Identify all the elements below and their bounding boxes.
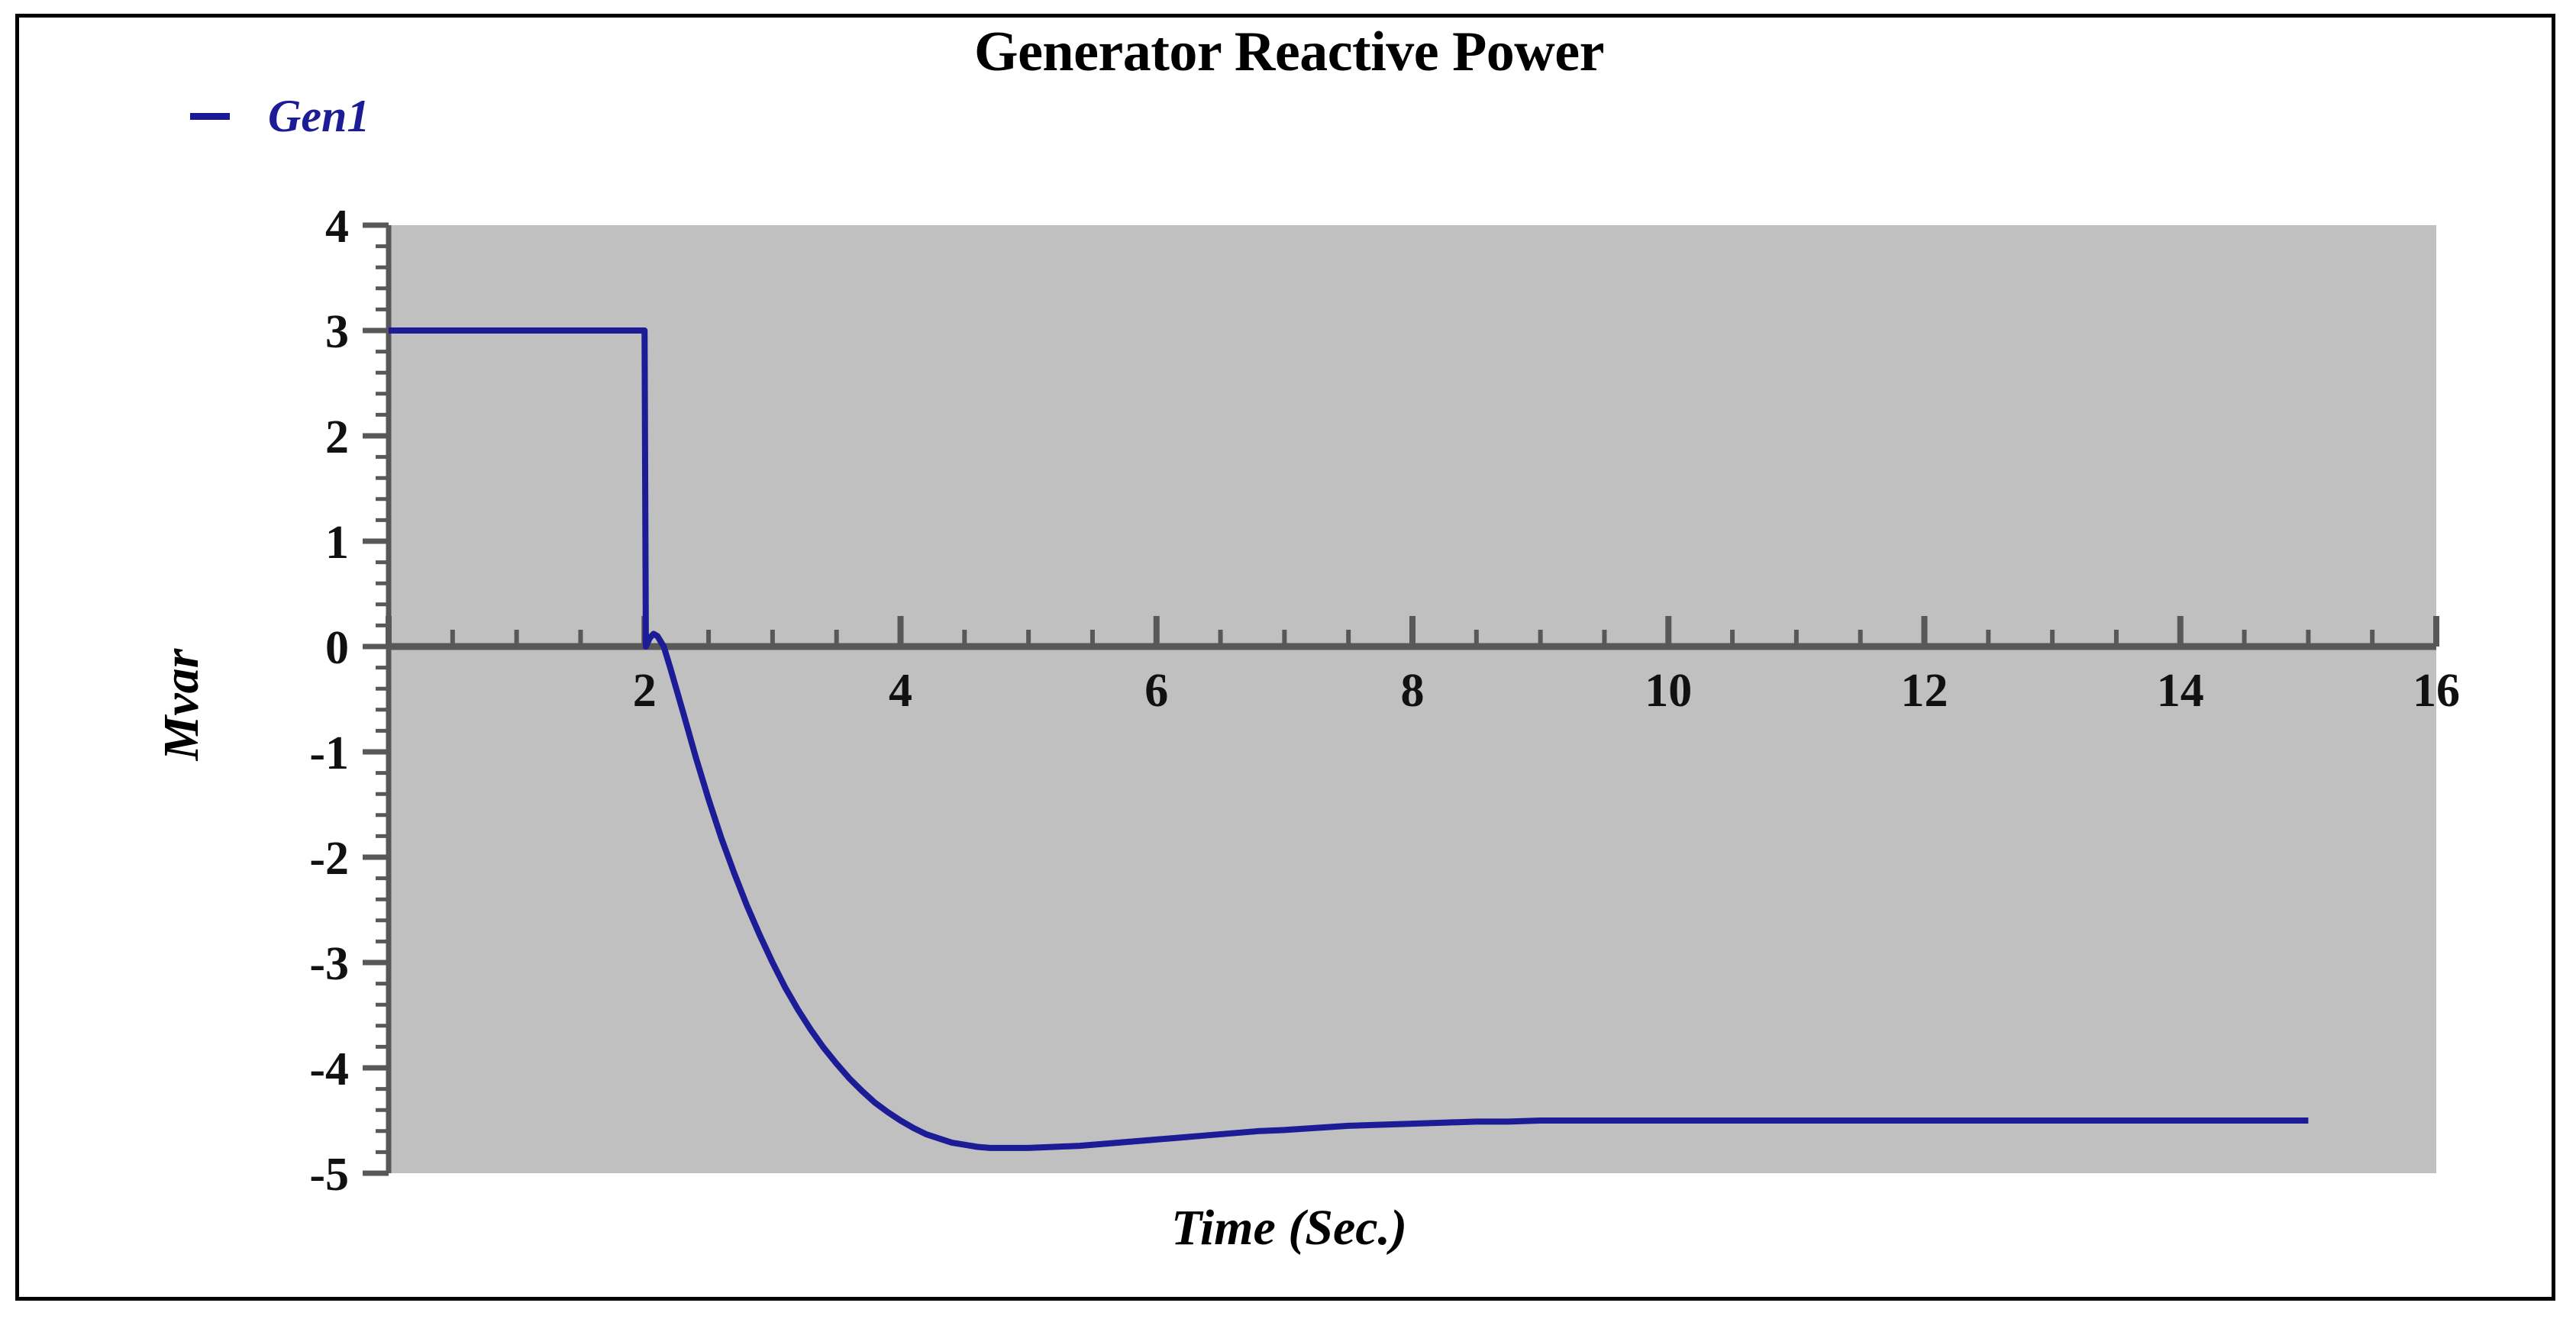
x-axis-tick-label: 14	[2157, 665, 2204, 717]
x-axis-tick-label: 2	[633, 665, 657, 717]
x-axis-tick-label: 4	[889, 665, 912, 717]
x-axis-tick-label: 8	[1401, 665, 1425, 717]
y-axis-tick-label: -3	[309, 938, 349, 990]
x-axis-tick-label: 6	[1144, 665, 1168, 717]
y-axis-tick-label: 4	[325, 201, 349, 253]
y-axis-tick-label: -2	[309, 833, 349, 885]
chart-frame: Generator Reactive Power Gen1 43210-1-2-…	[15, 14, 2555, 1301]
y-axis-tick-label: 1	[325, 517, 349, 569]
x-axis-title: Time (Sec.)	[19, 1199, 2559, 1257]
y-axis-title: Mvar	[153, 590, 211, 819]
chart-canvas: 43210-1-2-3-4-5246810121416	[19, 18, 2559, 1304]
y-axis-tick-label: -4	[309, 1043, 349, 1095]
y-axis-tick-label: -1	[309, 727, 349, 779]
y-axis-tick-label: 0	[325, 622, 349, 674]
x-axis-tick-label: 10	[1645, 665, 1692, 717]
x-axis-tick-label: 16	[2413, 665, 2460, 717]
y-axis-tick-label: 3	[325, 306, 349, 358]
y-axis-tick-label: 2	[325, 411, 349, 463]
plot-area: 43210-1-2-3-4-5246810121416	[19, 18, 2559, 1304]
x-axis-tick-label: 12	[1901, 665, 1948, 717]
chart-window: Generator Reactive Power Gen1 43210-1-2-…	[0, 0, 2576, 1319]
y-axis-tick-label: -5	[309, 1149, 349, 1201]
